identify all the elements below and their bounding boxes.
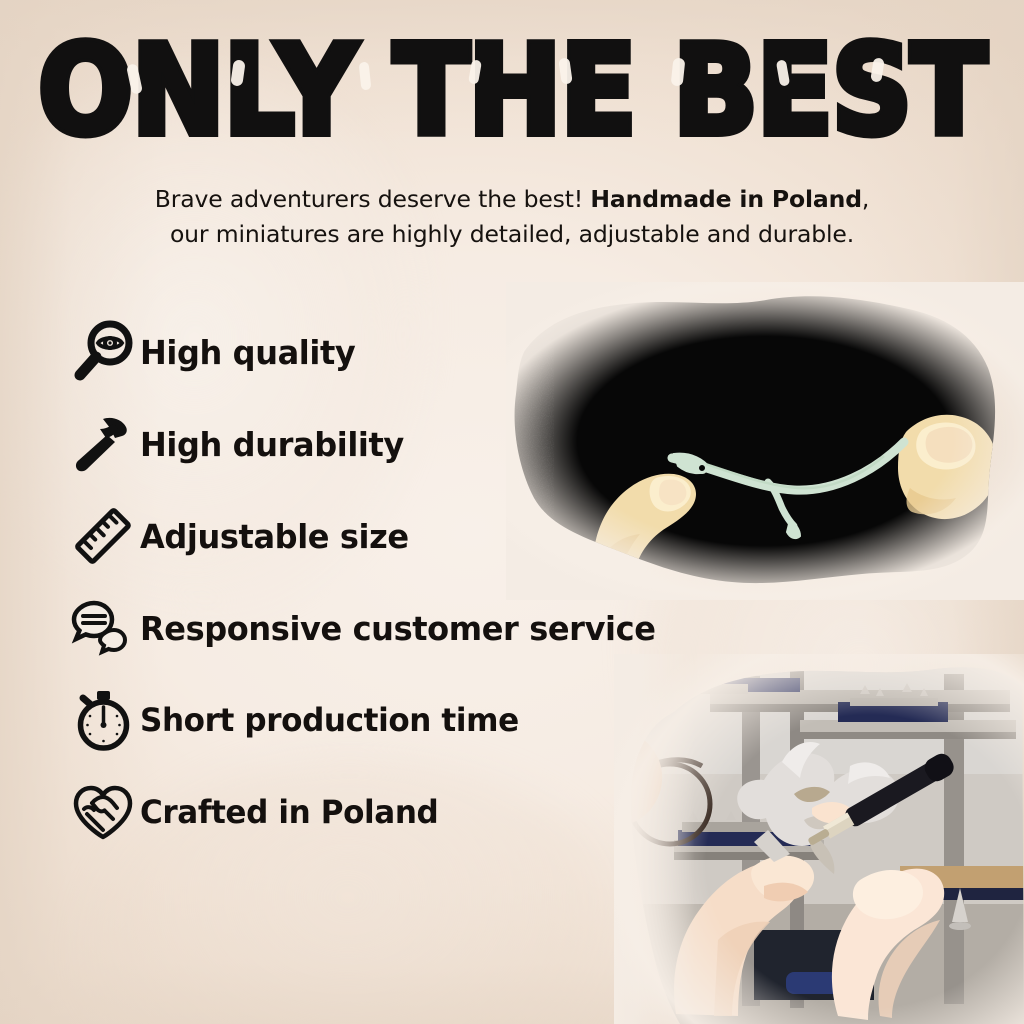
feature-label: Crafted in Poland	[140, 793, 438, 831]
feature-label: High durability	[140, 425, 404, 464]
subtitle-line1-bold: Handmade in Poland	[590, 185, 861, 213]
subtitle: Brave adventurers deserve the best! Hand…	[70, 182, 954, 252]
page-title: ONLY THE BEST	[0, 25, 1024, 160]
workshop-painting-photo-art	[614, 654, 1024, 1024]
poster: ONLY THE BEST Brave adventurers deserve …	[0, 0, 1024, 1024]
feature-label: High quality	[140, 333, 355, 372]
subtitle-line1-plain: Brave adventurers deserve the best!	[155, 185, 591, 213]
magnifier-eye-icon	[62, 316, 140, 388]
ruler-icon	[62, 500, 140, 572]
feature-label: Responsive customer service	[140, 609, 656, 648]
feature-label: Adjustable size	[140, 517, 409, 556]
feature-label: Short production time	[140, 701, 519, 739]
flex-test-photo	[506, 282, 1024, 600]
workshop-painting-photo	[614, 654, 1024, 1024]
flex-test-photo-art	[506, 282, 1024, 600]
handshake-heart-icon	[62, 776, 140, 848]
subtitle-line1-tail: ,	[862, 185, 869, 213]
speech-bubbles-icon	[62, 592, 140, 664]
hammer-icon	[62, 408, 140, 480]
subtitle-line2: our miniatures are highly detailed, adju…	[170, 220, 854, 248]
stopwatch-icon	[62, 684, 140, 756]
